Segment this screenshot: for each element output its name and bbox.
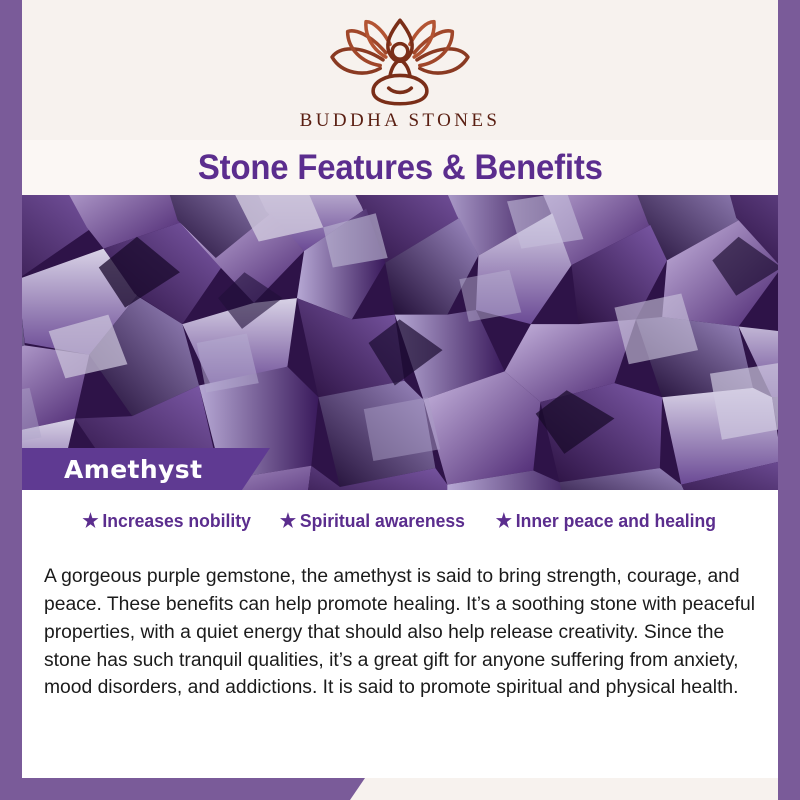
feature-item: ★ Inner peace and healing bbox=[496, 510, 716, 532]
frame-band-right bbox=[778, 0, 800, 800]
frame-band-left bbox=[0, 0, 22, 800]
card-inner: BUDDHA STONES Stone Features & Benefits bbox=[22, 0, 778, 778]
stone-name-label: Amethyst bbox=[22, 455, 202, 484]
star-icon: ★ bbox=[496, 512, 512, 531]
brand-header: BUDDHA STONES bbox=[22, 0, 778, 140]
feature-label: Spiritual awareness bbox=[300, 510, 465, 532]
feature-item: ★ Spiritual awareness bbox=[280, 510, 465, 532]
brand-name: BUDDHA STONES bbox=[300, 110, 501, 132]
description-panel: ★ Increases nobility ★ Spiritual awarene… bbox=[22, 490, 778, 778]
feature-item: ★ Increases nobility bbox=[82, 510, 250, 532]
page-title: Stone Features & Benefits bbox=[198, 148, 603, 188]
headline-band: Stone Features & Benefits bbox=[22, 140, 778, 195]
lotus-meditation-figure-icon bbox=[315, 16, 485, 108]
feature-list: ★ Increases nobility ★ Spiritual awarene… bbox=[40, 508, 760, 544]
star-icon: ★ bbox=[280, 512, 296, 531]
amethyst-crystal-texture bbox=[22, 195, 778, 490]
hero-image: Amethyst bbox=[22, 195, 778, 490]
feature-label: Increases nobility bbox=[102, 510, 250, 532]
star-icon: ★ bbox=[82, 512, 98, 531]
stone-info-card: BUDDHA STONES Stone Features & Benefits bbox=[0, 0, 800, 800]
stone-name-ribbon: Amethyst bbox=[22, 448, 270, 490]
stone-description: A gorgeous purple gemstone, the amethyst… bbox=[40, 563, 760, 702]
feature-label: Inner peace and healing bbox=[516, 510, 716, 532]
